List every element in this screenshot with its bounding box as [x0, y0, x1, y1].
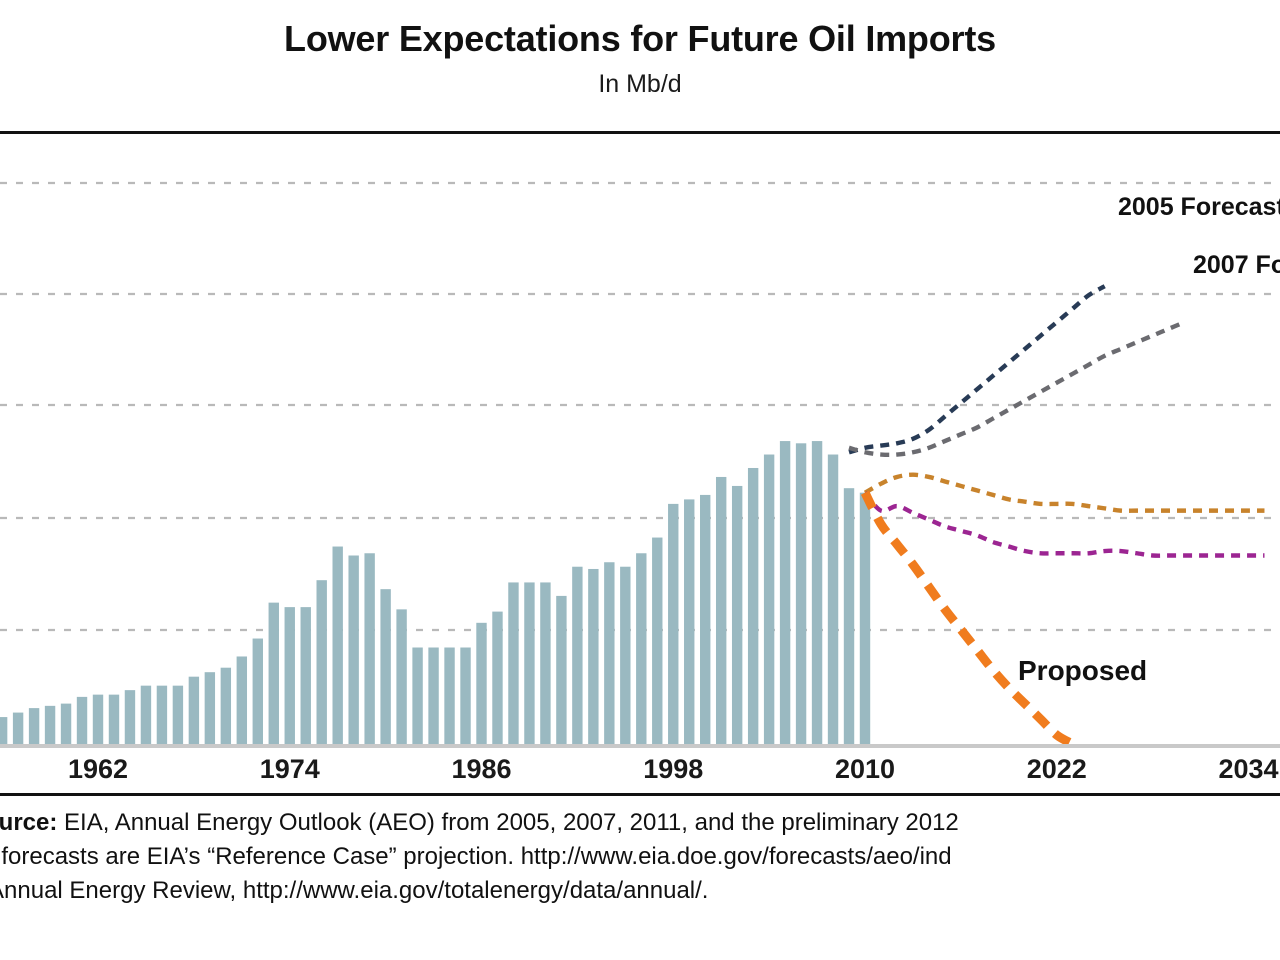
x-axis-tick-2034: 2034	[1218, 754, 1278, 785]
forecast-line-2007-forecast	[849, 322, 1185, 455]
source-line-3: A Annual Energy Review, http://www.eia.g…	[0, 874, 1280, 908]
bar	[157, 686, 167, 744]
bar	[812, 441, 822, 744]
bar	[636, 553, 646, 744]
bar	[444, 648, 454, 744]
bar	[700, 495, 710, 744]
header-divider	[0, 131, 1280, 134]
bar	[285, 607, 295, 744]
bar	[45, 706, 55, 744]
bar	[764, 455, 774, 744]
bar	[301, 607, 311, 744]
bar	[61, 704, 71, 744]
bar	[189, 677, 199, 744]
bar	[524, 582, 534, 744]
bar	[748, 468, 758, 744]
bar	[237, 656, 247, 744]
bar	[173, 686, 183, 744]
source-line-1-text: EIA, Annual Energy Outlook (AEO) from 20…	[57, 809, 958, 836]
bar	[460, 648, 470, 744]
bar	[780, 441, 790, 744]
page-title: Lower Expectations for Future Oil Import…	[0, 0, 1280, 60]
x-axis: 1962197419861998201020222034	[0, 744, 1280, 794]
bar	[428, 648, 438, 744]
x-axis-tick-2022: 2022	[1027, 754, 1087, 785]
bar	[332, 547, 342, 744]
bar	[412, 648, 422, 744]
bar	[396, 609, 406, 744]
forecast-line-proposed	[865, 493, 1073, 744]
x-axis-line	[0, 744, 1280, 748]
bar	[125, 690, 135, 744]
bar	[604, 562, 614, 744]
bar	[508, 582, 518, 744]
bar	[269, 603, 279, 744]
bar	[716, 477, 726, 744]
series-label-2007-forecast: 2007 Forecast	[1193, 251, 1280, 280]
bar	[556, 596, 566, 744]
x-axis-tick-1986: 1986	[451, 754, 511, 785]
x-axis-tick-1962: 1962	[68, 754, 128, 785]
bar	[77, 697, 87, 744]
bar	[141, 686, 151, 744]
bar	[492, 612, 502, 744]
bar	[668, 504, 678, 744]
bar	[828, 455, 838, 744]
chart-header: Lower Expectations for Future Oil Import…	[0, 0, 1280, 132]
bar	[253, 639, 263, 744]
chart-subtitle: In Mb/d	[0, 60, 1280, 99]
bar	[317, 580, 327, 744]
bar	[540, 582, 550, 744]
bar	[93, 695, 103, 744]
source-line-2: ar, forecasts are EIA’s “Reference Case”…	[0, 840, 1280, 874]
bar	[844, 488, 854, 744]
bar	[588, 569, 598, 744]
bar	[572, 567, 582, 744]
footer-divider	[0, 793, 1280, 796]
x-axis-tick-1974: 1974	[260, 754, 320, 785]
series-label-2005-forecast: 2005 Forecast	[1118, 193, 1280, 222]
bar	[0, 717, 7, 744]
bar	[364, 553, 374, 744]
bar	[476, 623, 486, 744]
source-line-1: Source: EIA, Annual Energy Outlook (AEO)…	[0, 806, 1280, 840]
x-axis-tick-1998: 1998	[643, 754, 703, 785]
bar	[109, 695, 119, 744]
bar	[221, 668, 231, 744]
bar	[652, 538, 662, 744]
bar	[205, 672, 215, 744]
bar	[732, 486, 742, 744]
x-axis-tick-2010: 2010	[835, 754, 895, 785]
bar	[13, 713, 23, 744]
bar	[348, 556, 358, 745]
source-label: Source:	[0, 809, 57, 836]
forecast-line-2012-preliminary-forecast	[865, 493, 1264, 556]
forecast-line-2011-forecast	[865, 475, 1264, 511]
series-label-proposed: Proposed	[1018, 655, 1147, 687]
source-note: Source: EIA, Annual Energy Outlook (AEO)…	[0, 806, 1280, 908]
bar	[860, 493, 870, 744]
chart-page: Lower Expectations for Future Oil Import…	[0, 0, 1280, 960]
bar	[796, 443, 806, 744]
bar	[380, 589, 390, 744]
bar	[29, 708, 39, 744]
bar	[620, 567, 630, 744]
bar	[684, 499, 694, 744]
